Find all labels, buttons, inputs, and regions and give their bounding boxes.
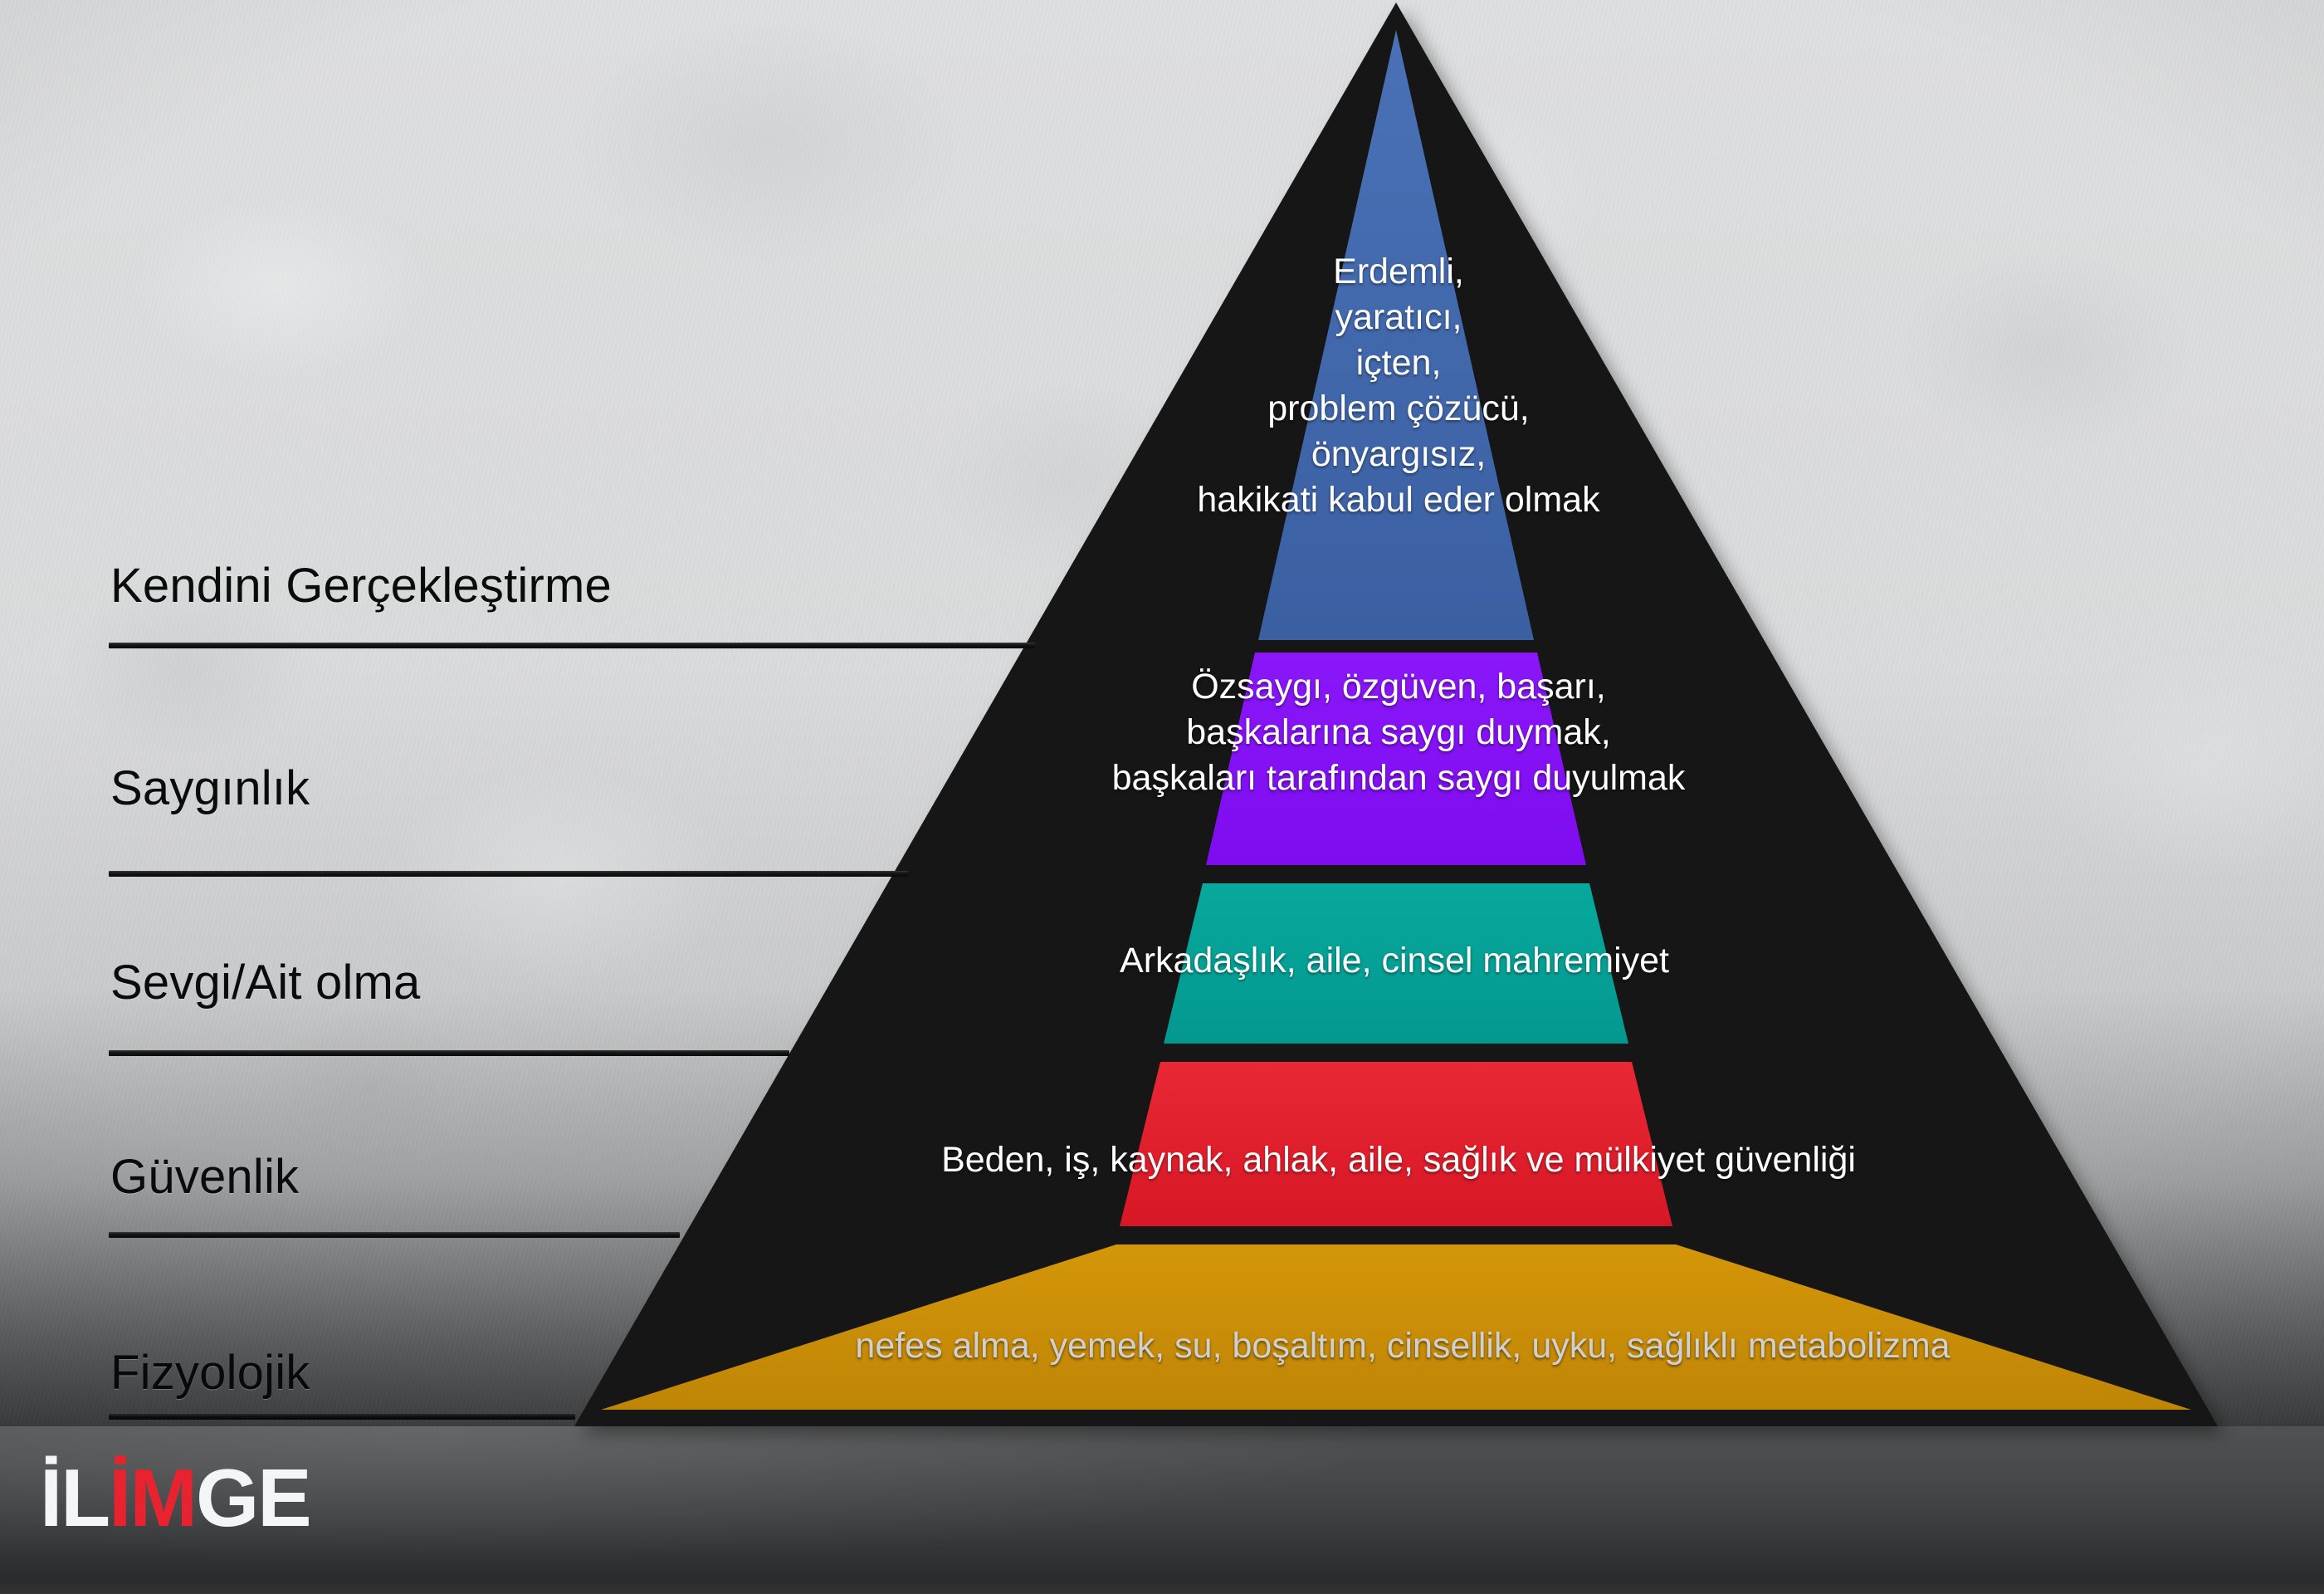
- pyramid-tier-safety[interactable]: [1120, 1062, 1672, 1226]
- pyramid-tier-esteem[interactable]: [1206, 653, 1586, 865]
- logo-part-ge: GE: [196, 1452, 310, 1543]
- maslow-pyramid-slide: Erdemli, yaratıcı, içten, problem çözücü…: [0, 0, 2324, 1594]
- level-label-physiological: Fizyolojik: [110, 1345, 310, 1401]
- level-label-esteem: Saygınlık: [110, 760, 310, 816]
- logo-part-im: İM: [109, 1452, 196, 1543]
- level-label-self-actualization: Kendini Gerçekleştirme: [110, 558, 612, 614]
- leader-line-physiological: [109, 1414, 575, 1420]
- leader-line-love-belonging: [109, 1050, 789, 1056]
- leader-line-safety: [109, 1232, 680, 1238]
- ilimge-logo[interactable]: İLİMGE: [40, 1457, 310, 1538]
- pyramid-tier-love-belonging[interactable]: [1164, 883, 1628, 1044]
- pyramid-graphic: [0, 0, 2324, 1594]
- level-label-love-belonging: Sevgi/Ait olma: [110, 955, 421, 1010]
- leader-line-esteem: [109, 871, 908, 877]
- logo-part-il: İL: [40, 1452, 109, 1543]
- leader-line-self-actualization: [109, 643, 1035, 648]
- level-label-safety: Güvenlik: [110, 1149, 299, 1205]
